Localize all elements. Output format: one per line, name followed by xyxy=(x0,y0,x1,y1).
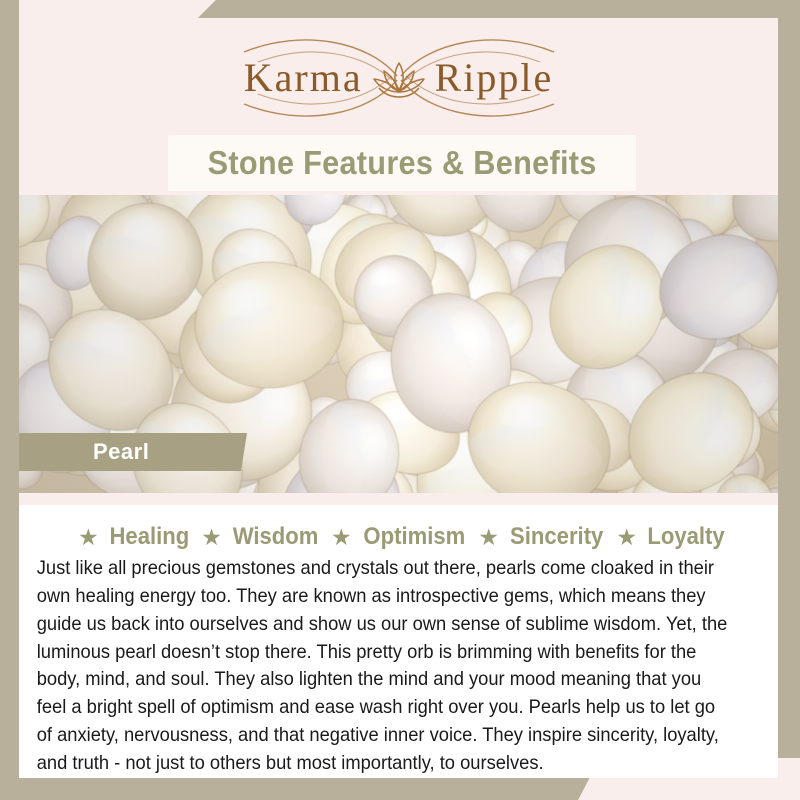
keyword-sincerity: Sincerity xyxy=(510,523,603,551)
page-title: Stone Features & Benefits xyxy=(207,144,596,182)
frame-right-beige-bar xyxy=(778,0,800,800)
title-banner-wrap: Stone Features & Benefits xyxy=(19,133,778,195)
header: Karma Ripple xyxy=(19,18,778,133)
keyword-wisdom: Wisdom xyxy=(233,523,319,551)
star-icon: ★ xyxy=(201,526,222,549)
stone-name-label: Pearl xyxy=(93,439,149,465)
star-icon: ★ xyxy=(616,526,637,549)
stone-benefits-infographic: Karma Ripple xyxy=(0,0,800,800)
star-icon: ★ xyxy=(331,526,352,549)
content-area: ★Healing★Wisdom★Optimism★Sincerity★Loyal… xyxy=(19,505,778,778)
brand-logo-inner: Karma Ripple xyxy=(244,57,554,99)
lotus-icon xyxy=(371,57,427,99)
brand-word-left: Karma xyxy=(244,58,363,98)
photo-bottom-strip xyxy=(19,493,778,505)
star-icon: ★ xyxy=(78,526,99,549)
keyword-loyalty: Loyalty xyxy=(647,523,724,551)
keyword-optimism: Optimism xyxy=(363,523,465,551)
brand-word-right: Ripple xyxy=(435,58,554,98)
keyword-list: ★Healing★Wisdom★Optimism★Sincerity★Loyal… xyxy=(31,523,766,551)
title-banner: Stone Features & Benefits xyxy=(168,135,636,191)
body-paragraph: Just like all precious gemstones and cry… xyxy=(31,555,733,778)
stone-name-tag: Pearl xyxy=(19,433,247,471)
stone-photo: Pearl xyxy=(19,195,778,493)
main-panel: Karma Ripple xyxy=(19,18,778,778)
keyword-healing: Healing xyxy=(109,523,189,551)
frame-left-beige-bar xyxy=(0,0,19,800)
star-icon: ★ xyxy=(478,526,499,549)
brand-logo: Karma Ripple xyxy=(19,32,778,124)
